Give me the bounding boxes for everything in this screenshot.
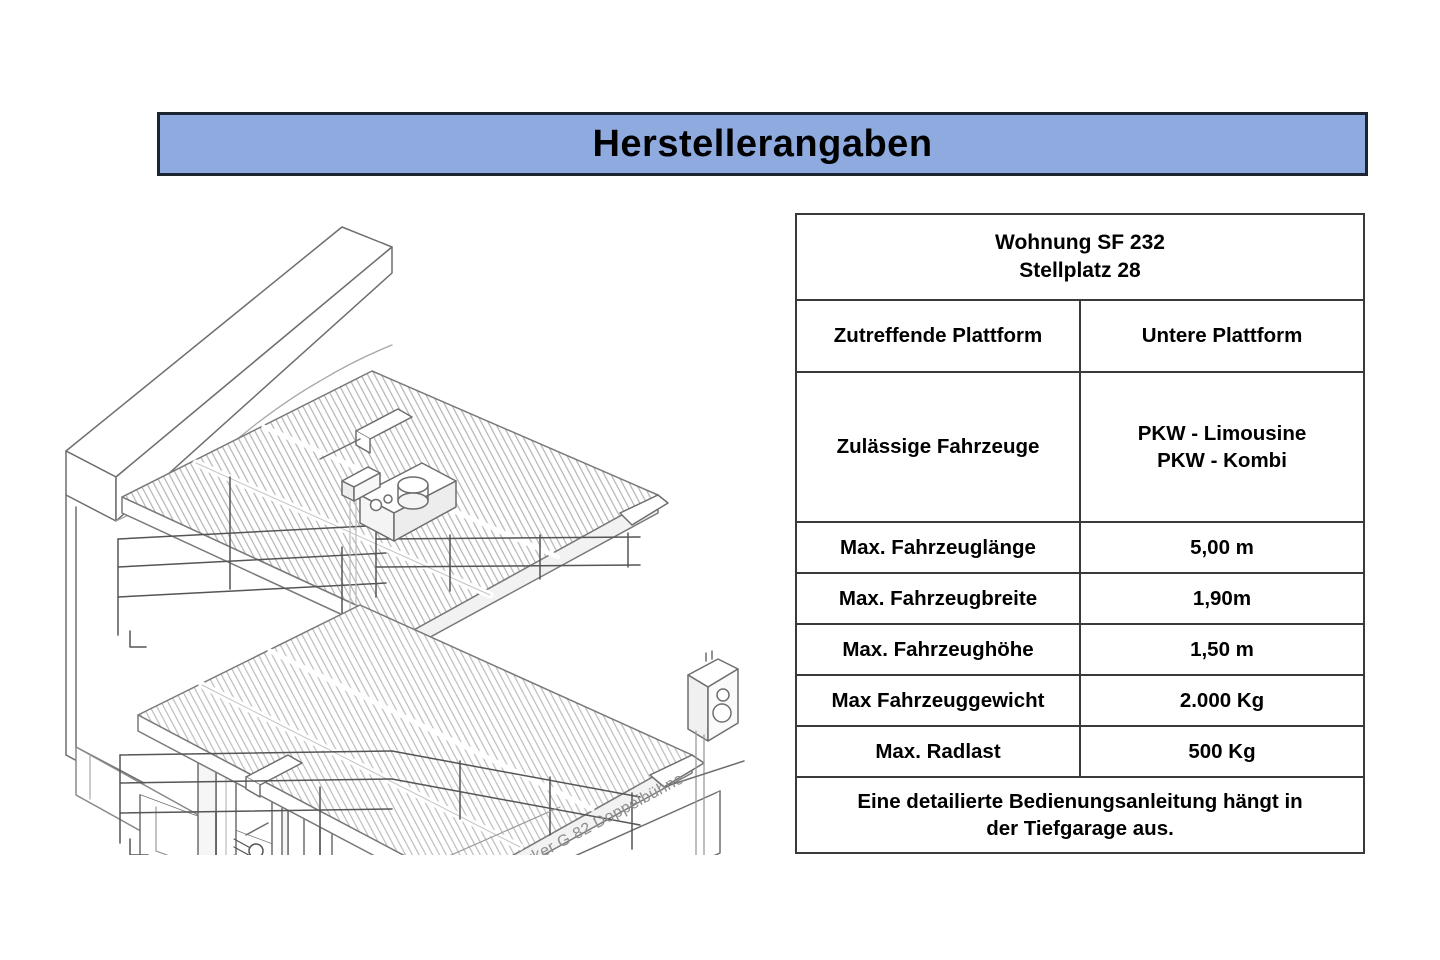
row-label-max-vehicle-weight: Max Fahrzeuggewicht	[796, 675, 1080, 726]
table-row-header: Wohnung SF 232 Stellplatz 28	[796, 214, 1364, 300]
table-row: Max. Fahrzeuglänge 5,00 m	[796, 522, 1364, 573]
row-value-permitted-vehicles: PKW - Limousine PKW - Kombi	[1080, 372, 1364, 522]
page-title-banner: Herstellerangaben	[157, 112, 1368, 176]
table-footer-note: Eine detailierte Bedienungsanleitung hän…	[796, 777, 1364, 853]
row-label-max-wheel-load: Max. Radlast	[796, 726, 1080, 777]
parking-space-label: Stellplatz 28	[803, 257, 1357, 285]
row-label-permitted-vehicles: Zulässige Fahrzeuge	[796, 372, 1080, 522]
permitted-vehicle-1: PKW - Limousine	[1138, 422, 1307, 445]
row-value-max-vehicle-weight: 2.000 Kg	[1080, 675, 1364, 726]
table-row: Max. Fahrzeugbreite 1,90m	[796, 573, 1364, 624]
apartment-label: Wohnung SF 232	[995, 231, 1165, 254]
row-value-max-vehicle-height: 1,50 m	[1080, 624, 1364, 675]
row-label-max-vehicle-height: Max. Fahrzeughöhe	[796, 624, 1080, 675]
row-label-applicable-platform: Zutreffende Plattform	[796, 300, 1080, 372]
table-header-cell: Wohnung SF 232 Stellplatz 28	[796, 214, 1364, 300]
table-row: Max. Radlast 500 Kg	[796, 726, 1364, 777]
footer-note-line-1: Eine detailierte Bedienungsanleitung hän…	[857, 790, 1302, 813]
table-row: Max Fahrzeuggewicht 2.000 Kg	[796, 675, 1364, 726]
page-title: Herstellerangaben	[592, 125, 932, 163]
manufacturer-spec-table: Wohnung SF 232 Stellplatz 28 Zutreffende…	[795, 213, 1365, 854]
row-value-max-vehicle-width: 1,90m	[1080, 573, 1364, 624]
row-label-max-vehicle-length: Max. Fahrzeuglänge	[796, 522, 1080, 573]
table-row: Zutreffende Plattform Untere Plattform	[796, 300, 1364, 372]
table-row: Zulässige Fahrzeuge PKW - Limousine PKW …	[796, 372, 1364, 522]
footer-note-line-2: der Tiefgarage aus.	[809, 815, 1351, 842]
table-row: Max. Fahrzeughöhe 1,50 m	[796, 624, 1364, 675]
row-value-max-wheel-load: 500 Kg	[1080, 726, 1364, 777]
permitted-vehicle-2: PKW - Kombi	[1087, 447, 1357, 474]
row-value-max-vehicle-length: 5,00 m	[1080, 522, 1364, 573]
parking-lift-diagram-svg: Stapelparker G 82 Doppelbühne	[20, 195, 760, 855]
row-value-applicable-platform: Untere Plattform	[1080, 300, 1364, 372]
parking-lift-diagram: Stapelparker G 82 Doppelbühne	[20, 195, 760, 855]
row-label-max-vehicle-width: Max. Fahrzeugbreite	[796, 573, 1080, 624]
table-row-footer: Eine detailierte Bedienungsanleitung hän…	[796, 777, 1364, 853]
